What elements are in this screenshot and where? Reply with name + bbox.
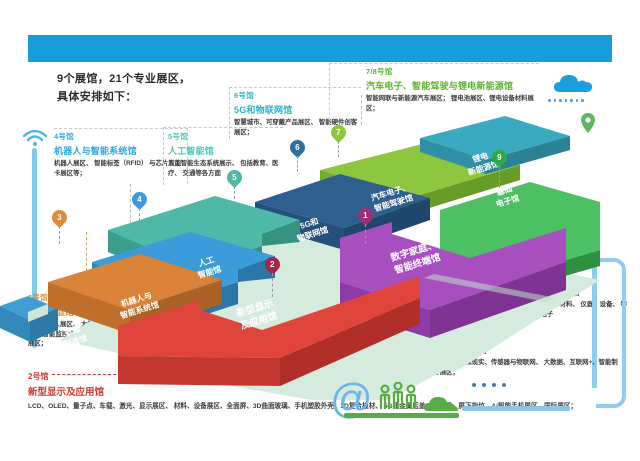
green-underline-decor bbox=[344, 413, 459, 418]
map-marker-3-stem bbox=[59, 226, 60, 244]
dot-row-decor bbox=[548, 99, 584, 102]
infographic-canvas: 9个展馆，21个专业展区， 具体安排如下： 4号馆 机器人与智能系统馆 机器人展… bbox=[0, 0, 640, 461]
map-marker-6-stem bbox=[297, 156, 298, 172]
top-banner-bar bbox=[28, 35, 612, 62]
map-marker-1-stem bbox=[365, 224, 366, 244]
map-marker-5-stem bbox=[234, 186, 235, 204]
cloud-icon bbox=[552, 72, 598, 94]
map-marker-4-stem bbox=[139, 208, 140, 226]
people-icon bbox=[378, 382, 418, 414]
headline-line-2: 具体安排如下： bbox=[57, 88, 191, 106]
dot-row-bottom-decor bbox=[472, 383, 506, 387]
map-marker-2-stem bbox=[272, 273, 273, 297]
page-title: 9个展馆，21个专业展区， 具体安排如下： bbox=[57, 70, 191, 106]
isometric-map bbox=[0, 110, 640, 400]
cloud-icon-bottom bbox=[424, 397, 460, 413]
headline-line-1: 9个展馆，21个专业展区， bbox=[57, 70, 191, 88]
blue-underline-decor bbox=[462, 406, 570, 411]
map-marker-9-stem bbox=[499, 166, 500, 188]
map-marker-7-stem bbox=[338, 141, 339, 157]
